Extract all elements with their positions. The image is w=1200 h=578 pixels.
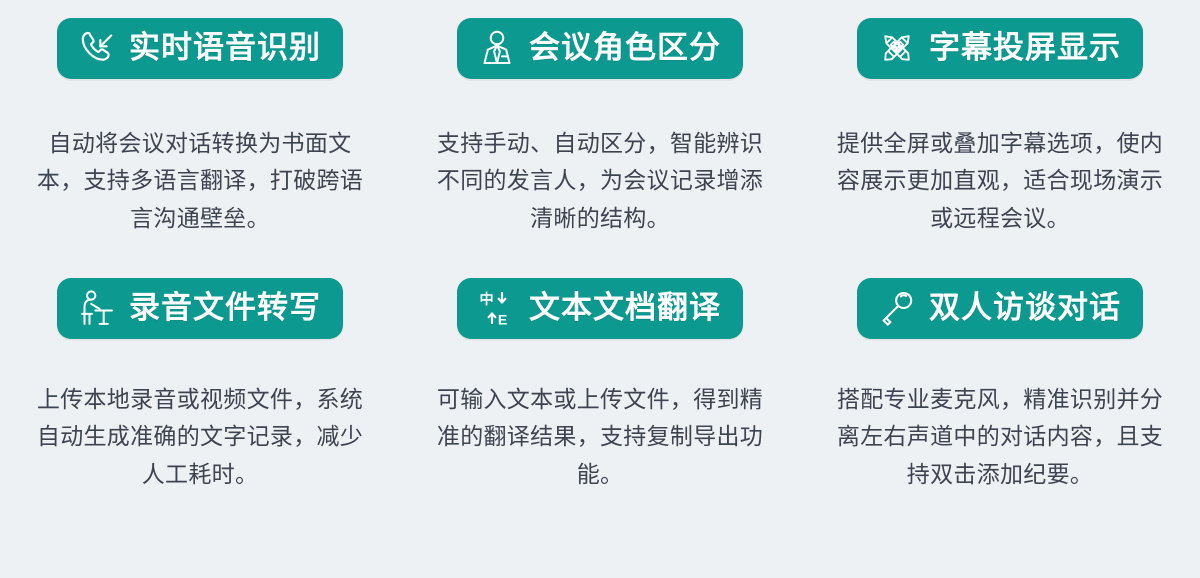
feature-title: 录音文件转写 xyxy=(129,291,321,325)
feature-badge[interactable]: 中 E 文本文档翻译 xyxy=(457,278,743,339)
feature-card-audio-file-transcription: 录音文件转写 上传本地录音或视频文件，系统自动生成准确的文字记录，减少人工耗时。 xyxy=(0,278,400,538)
crossed-pencils-icon xyxy=(877,28,917,68)
feature-badge[interactable]: 会议角色区分 xyxy=(457,18,743,79)
chinese-english-translate-icon: 中 E xyxy=(477,288,517,328)
feature-title: 实时语音识别 xyxy=(129,31,321,65)
feature-card-meeting-role-separation: 会议角色区分 支持手动、自动区分，智能辨识不同的发言人，为会议记录增添清晰的结构… xyxy=(400,18,800,278)
feature-card-realtime-speech-recognition: 实时语音识别 自动将会议对话转换为书面文本，支持多语言翻译，打破跨语言沟通壁垒。 xyxy=(0,18,400,278)
two-people-roles-icon xyxy=(477,28,517,68)
feature-badge[interactable]: 实时语音识别 xyxy=(57,18,343,79)
person-at-desk-typing-icon xyxy=(77,288,117,328)
svg-text:中: 中 xyxy=(480,291,494,308)
phone-incoming-call-icon xyxy=(77,28,117,68)
feature-badge[interactable]: 字幕投屏显示 xyxy=(857,18,1143,79)
feature-description: 提供全屏或叠加字幕选项，使内容展示更加直观，适合现场演示或远程会议。 xyxy=(830,125,1170,237)
feature-badge[interactable]: 双人访谈对话 xyxy=(857,278,1143,339)
feature-description: 支持手动、自动区分，智能辨识不同的发言人，为会议记录增添清晰的结构。 xyxy=(430,125,770,237)
svg-text:E: E xyxy=(498,313,507,328)
feature-description: 搭配专业麦克风，精准识别并分离左右声道中的对话内容，且支持双击添加纪要。 xyxy=(830,381,1170,493)
feature-title: 会议角色区分 xyxy=(529,31,721,65)
microphone-icon xyxy=(877,288,917,328)
feature-card-two-person-interview: 双人访谈对话 搭配专业麦克风，精准识别并分离左右声道中的对话内容，且支持双击添加… xyxy=(800,278,1200,538)
feature-title: 文本文档翻译 xyxy=(529,291,721,325)
features-grid: 实时语音识别 自动将会议对话转换为书面文本，支持多语言翻译，打破跨语言沟通壁垒。… xyxy=(0,0,1200,578)
feature-title: 字幕投屏显示 xyxy=(929,31,1121,65)
feature-title: 双人访谈对话 xyxy=(929,291,1121,325)
feature-badge[interactable]: 录音文件转写 xyxy=(57,278,343,339)
feature-description: 上传本地录音或视频文件，系统自动生成准确的文字记录，减少人工耗时。 xyxy=(30,381,370,493)
feature-description: 可输入文本或上传文件，得到精准的翻译结果，支持复制导出功能。 xyxy=(430,381,770,493)
feature-card-subtitle-screen-display: 字幕投屏显示 提供全屏或叠加字幕选项，使内容展示更加直观，适合现场演示或远程会议… xyxy=(800,18,1200,278)
feature-description: 自动将会议对话转换为书面文本，支持多语言翻译，打破跨语言沟通壁垒。 xyxy=(30,125,370,237)
feature-card-text-document-translation: 中 E 文本文档翻译 可输入文本或上传文件，得到精准的翻译结果，支持复制导出功能… xyxy=(400,278,800,538)
